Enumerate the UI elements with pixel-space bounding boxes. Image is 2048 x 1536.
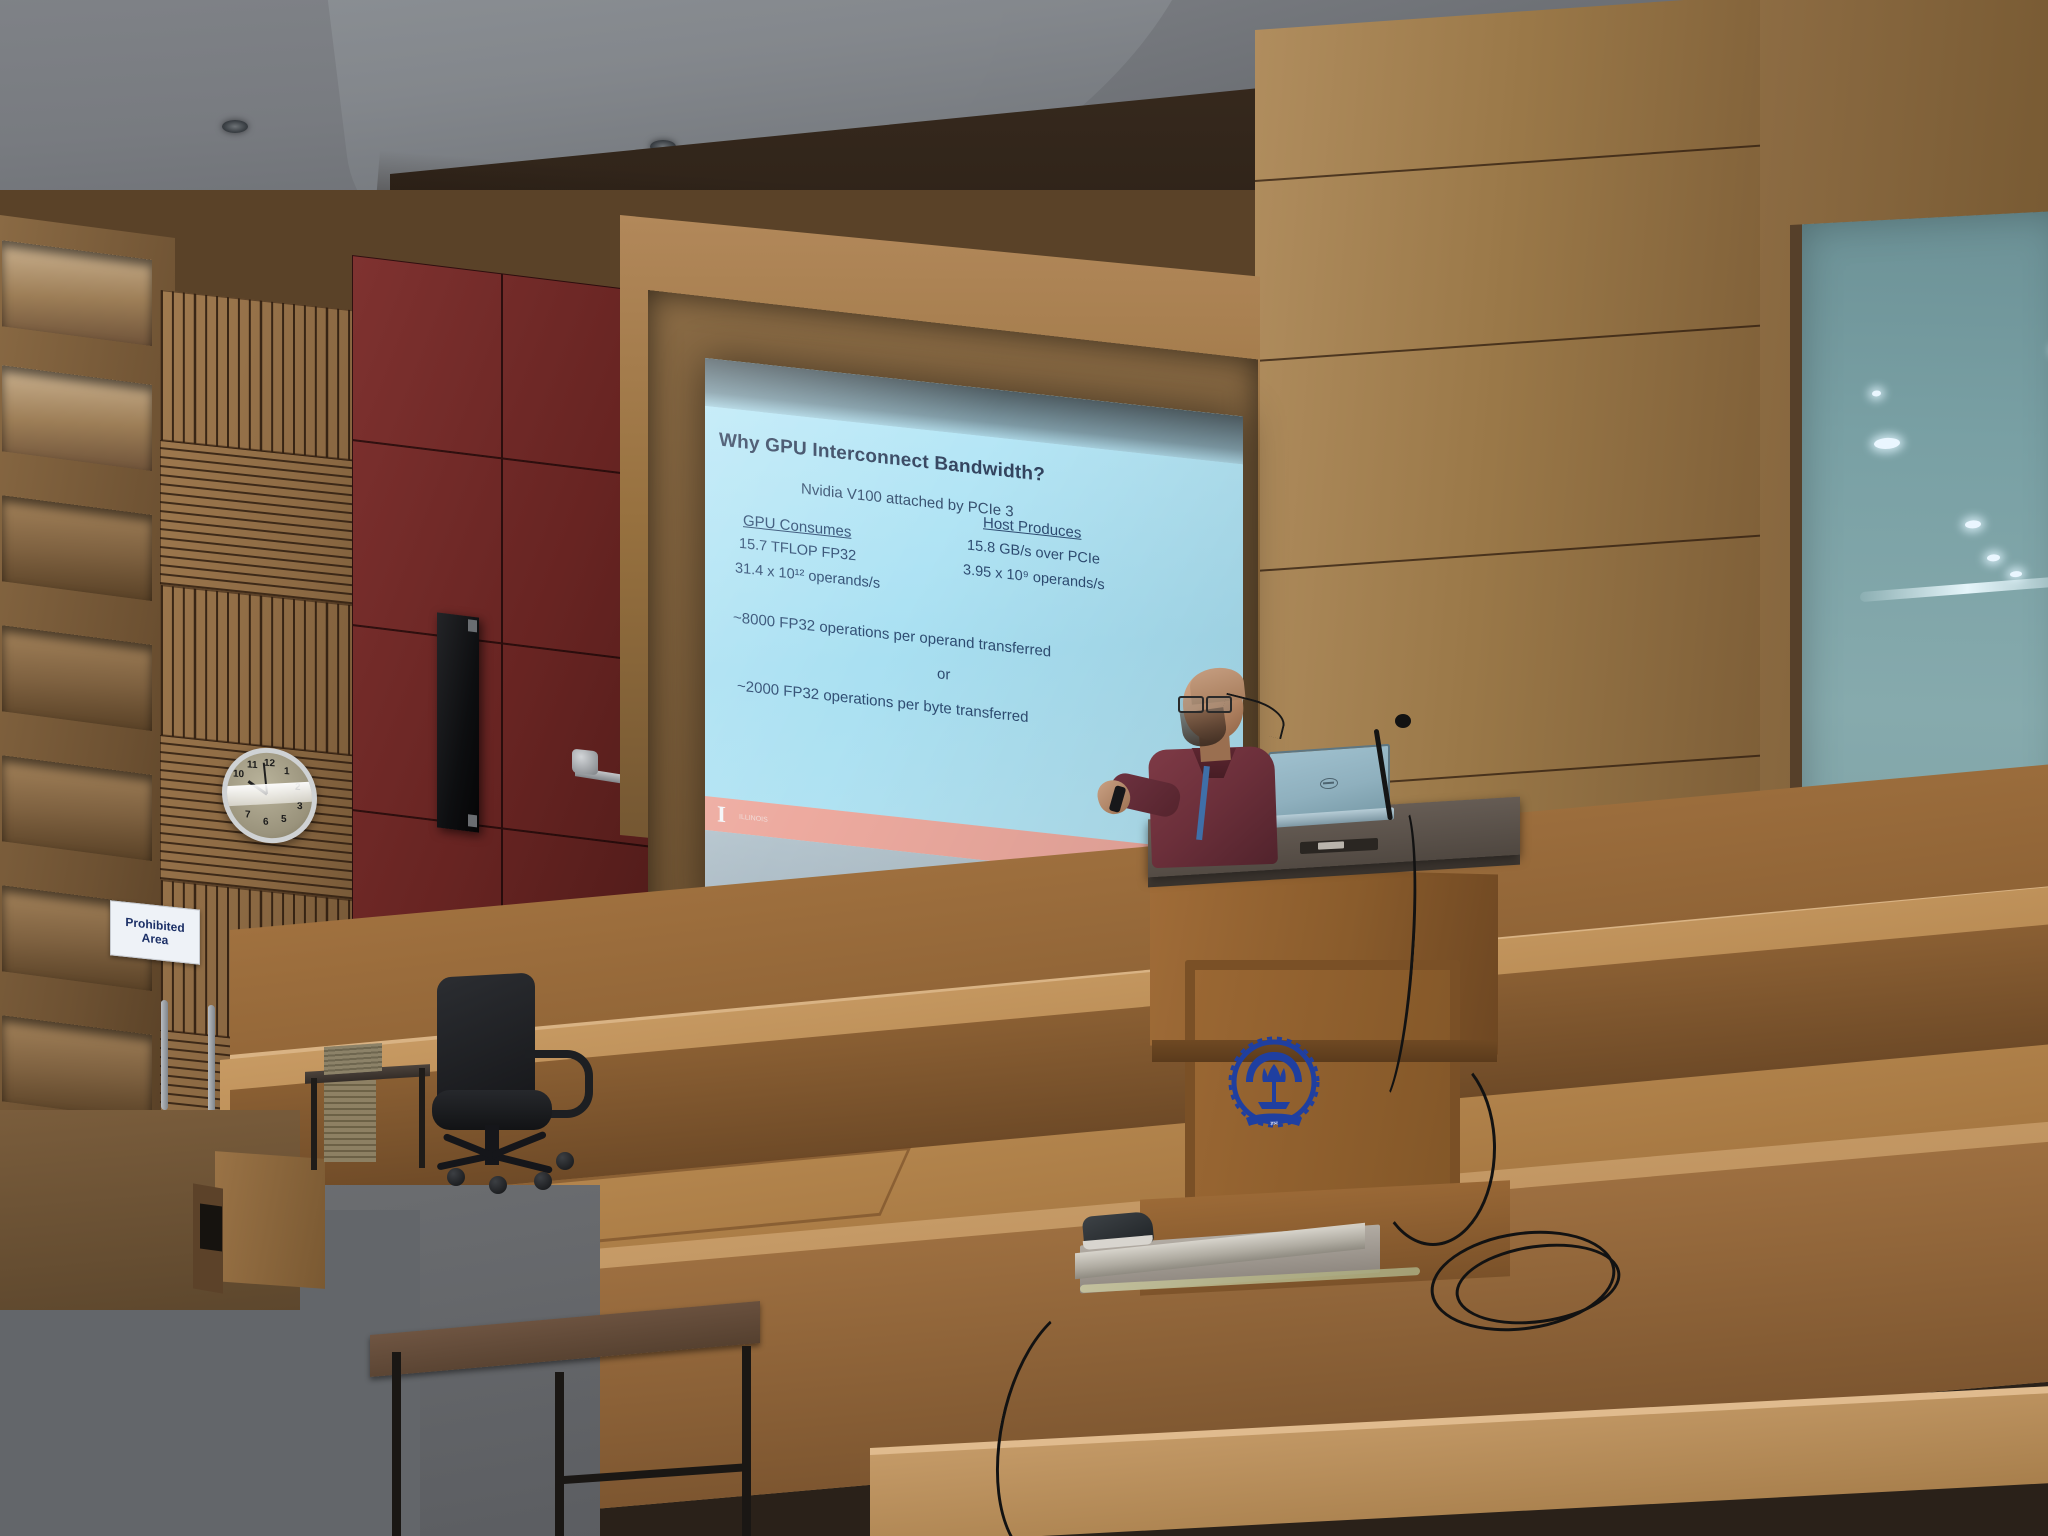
clock-numeral: 12 [264,758,275,770]
lecture-hall-photo: 12 1 2 3 5 6 7 10 11 Prohibited Area [0,0,2048,1536]
left-shelf-wall [0,215,175,1248]
wall-niche [2,1015,152,1121]
stage-side-box [215,1151,325,1289]
conclusion-line-2: or [937,665,950,683]
wall-seam [1255,324,1775,362]
glasses-lens-left [1178,696,1204,713]
clock-numeral: 6 [263,817,269,828]
light-reflection [1965,520,1981,529]
wall-niche [2,495,152,601]
light-reflection [1874,437,1900,449]
light-reflection [1987,554,2000,562]
chair-caster [447,1168,465,1186]
svg-text:ज्ञानं: ज्ञानं [1270,1120,1278,1127]
red-acoustic-tile [352,625,502,828]
door-handle[interactable] [161,1000,168,1111]
chair-caster [489,1176,507,1194]
speaker-bracket [468,814,477,827]
wall-niche [2,625,152,731]
slide-subtitle: Nvidia V100 attached by PCIe 3 [801,480,1014,520]
wall-niche [2,240,152,346]
acoustic-tile [160,290,360,461]
podium-cable [1370,1050,1496,1246]
illinois-logo: I [717,802,726,826]
gpu-consumes-heading: GPU Consumes [743,512,851,541]
red-acoustic-tile [352,255,502,458]
iit-bombay-emblem: ज्ञानं [1220,1030,1328,1142]
clock-numeral: 10 [233,768,244,780]
podium-control-insert [1318,841,1344,849]
clock-numeral: 11 [247,759,258,771]
ceiling-downlight [222,120,248,133]
speaker-bracket [468,619,477,632]
light-reflection [1872,390,1881,396]
acoustic-tile [160,440,360,606]
clock-numeral: 3 [297,801,303,812]
light-strip-reflection [1860,575,2048,602]
wall-niche [2,365,152,471]
side-table-leg [419,1068,425,1168]
gpu-consumes-line-1: 15.7 TFLOP FP32 [739,536,856,565]
door-handle[interactable] [208,1005,215,1116]
wall-niche [2,755,152,861]
host-produces-heading: Host Produces [983,514,1081,542]
stacked-mats [324,1080,376,1162]
acoustic-tile [160,585,360,756]
clock-numeral: 5 [281,814,287,825]
clock-numeral: 7 [245,809,251,820]
light-reflection [2010,571,2022,578]
chair-caster [534,1172,552,1190]
clock-numeral: 1 [284,766,290,777]
ptz-camera-icon [572,749,598,776]
conclusion-line-1: ~8000 FP32 operations per operand transf… [733,609,1051,661]
gpu-consumes-line-2: 31.4 x 10¹² operands/s [735,560,880,592]
stacked-items-on-table [324,1043,382,1075]
host-produces-line-1: 15.8 GB/s over PCIe [967,537,1100,567]
stage-side-box-vent [200,1203,222,1251]
bench-leg [742,1346,751,1536]
sign-line-2: Area [142,931,169,948]
wall-seam [1255,534,1775,572]
side-table-leg [311,1078,317,1170]
chair-caster [556,1152,574,1170]
wall-seam [1255,144,1775,182]
red-acoustic-tile [352,440,502,643]
microphone-head [1395,714,1411,728]
office-chair-seat [432,1090,552,1130]
bench-leg [392,1352,401,1536]
host-produces-line-2: 3.95 x 10⁹ operands/s [963,562,1105,593]
wall-column-speaker [437,612,479,832]
conclusion-line-3: ~2000 FP32 operations per byte transferr… [737,677,1028,726]
bench-leg [555,1372,564,1536]
prohibited-area-sign: Prohibited Area [110,900,200,964]
slide-title: Why GPU Interconnect Bandwidth? [719,430,1045,487]
office-chair-backrest [437,972,535,1107]
